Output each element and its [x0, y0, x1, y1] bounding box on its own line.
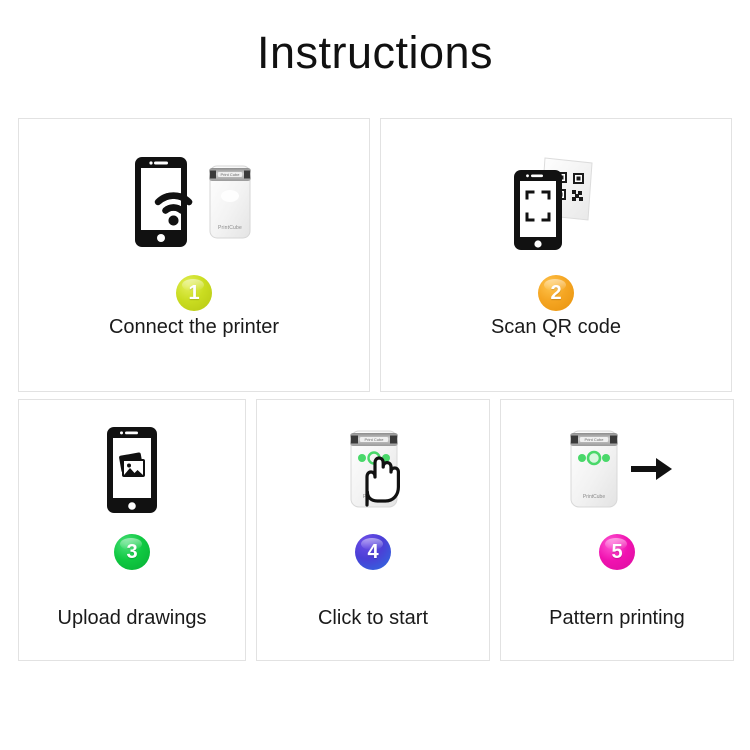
step-5-artwork: Print Cube PrintCube: [501, 422, 733, 518]
svg-text:PrintCube: PrintCube: [583, 494, 605, 500]
svg-text:Print Cube: Print Cube: [221, 172, 241, 177]
steps-row-top: Print Cube PrintCube 1 Connect the print…: [18, 118, 732, 392]
printer-device-icon: Print Cube PrintCube: [206, 163, 254, 241]
svg-text:PrintCube: PrintCube: [218, 225, 242, 231]
step-card-3[interactable]: 3 Upload drawings: [18, 399, 246, 661]
photos-stack-glyph: [119, 452, 145, 477]
instructions-page: Instructions: [0, 0, 750, 750]
step-card-1[interactable]: Print Cube PrintCube 1 Connect the print…: [18, 118, 370, 392]
step-badge-4: 4: [355, 534, 391, 570]
step-label-1: Connect the printer: [19, 316, 369, 339]
step-card-4[interactable]: Print Cube PrintCube 4: [256, 399, 490, 661]
step-4-artwork: Print Cube PrintCube: [257, 422, 489, 518]
steps-grid: Print Cube PrintCube 1 Connect the print…: [18, 118, 732, 661]
step-label-5: Pattern printing: [501, 607, 733, 630]
step-label-3: Upload drawings: [19, 607, 245, 630]
step-2-artwork: [381, 143, 731, 261]
steps-row-bottom: 3 Upload drawings: [18, 399, 732, 661]
step-card-2[interactable]: 2 Scan QR code: [380, 118, 732, 392]
step-3-artwork: [19, 422, 245, 518]
step-badge-3: 3: [114, 534, 150, 570]
phone-scan-icon: [514, 170, 562, 250]
printer-device-icon: Print Cube PrintCube: [570, 431, 618, 507]
step-1-artwork: Print Cube PrintCube: [19, 143, 369, 261]
step-label-2: Scan QR code: [381, 316, 731, 339]
svg-text:Print Cube: Print Cube: [365, 437, 385, 442]
arrow-right-icon: [631, 458, 672, 480]
step-badge-1: 1: [176, 275, 212, 311]
phone-wifi-icon: [134, 156, 196, 248]
step-label-4: Click to start: [257, 607, 489, 630]
step-badge-5: 5: [599, 534, 635, 570]
phone-gallery-icon: [104, 426, 160, 514]
step-badge-2: 2: [538, 275, 574, 311]
step-card-5[interactable]: Print Cube PrintCube: [500, 399, 734, 661]
svg-text:Print Cube: Print Cube: [585, 437, 605, 442]
page-title: Instructions: [0, 26, 750, 80]
